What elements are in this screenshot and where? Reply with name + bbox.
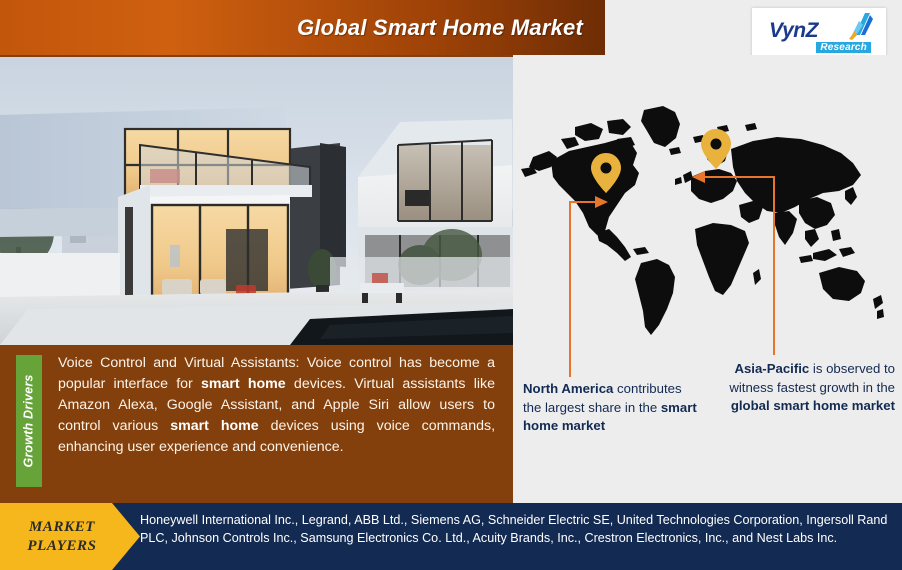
arrow-head-north-america — [595, 196, 608, 208]
market-players-list: Honeywell International Inc., Legrand, A… — [140, 511, 888, 547]
map-marker-asia-pacific — [701, 129, 731, 169]
right-panel: North America contributes the largest sh… — [513, 55, 902, 503]
arrow-head-asia-pacific — [692, 171, 705, 183]
header-bar: Global Smart Home Market — [0, 0, 605, 55]
infographic-root: Global Smart Home Market VynZ Research f… — [0, 0, 902, 570]
growth-drivers-section: Growth Drivers Voice Control and Virtual… — [0, 345, 513, 503]
market-players-badge-line2: PLAYERS — [27, 537, 96, 556]
market-players-footer: MARKET PLAYERS Honeywell International I… — [0, 503, 902, 570]
page-title: Global Smart Home Market — [297, 15, 583, 41]
hero-image-smart-home — [0, 57, 513, 345]
connector-north-america — [570, 202, 599, 377]
growth-drivers-tab-label: Growth Drivers — [22, 374, 36, 467]
logo-name-primary: VynZ — [769, 19, 818, 43]
logo-name-secondary: Research — [816, 42, 871, 53]
market-players-badge: MARKET PLAYERS — [0, 503, 140, 570]
arrow-swoosh-icon — [839, 9, 873, 46]
connector-asia-pacific — [701, 177, 774, 355]
market-players-badge-line1: MARKET — [29, 518, 95, 537]
growth-drivers-body: Voice Control and Virtual Assistants: Vo… — [42, 353, 499, 458]
left-column: Growth Drivers Voice Control and Virtual… — [0, 55, 513, 503]
growth-drivers-tab: Growth Drivers — [16, 355, 42, 487]
map-connectors — [513, 55, 902, 503]
logo-mark: VynZ Research — [763, 19, 875, 51]
callout-north-america: North America contributes the largest sh… — [523, 380, 703, 436]
map-marker-north-america — [591, 153, 621, 193]
hero-illustration — [0, 57, 513, 345]
callout-asia-pacific: Asia-Pacific is observed to witness fast… — [699, 360, 895, 416]
